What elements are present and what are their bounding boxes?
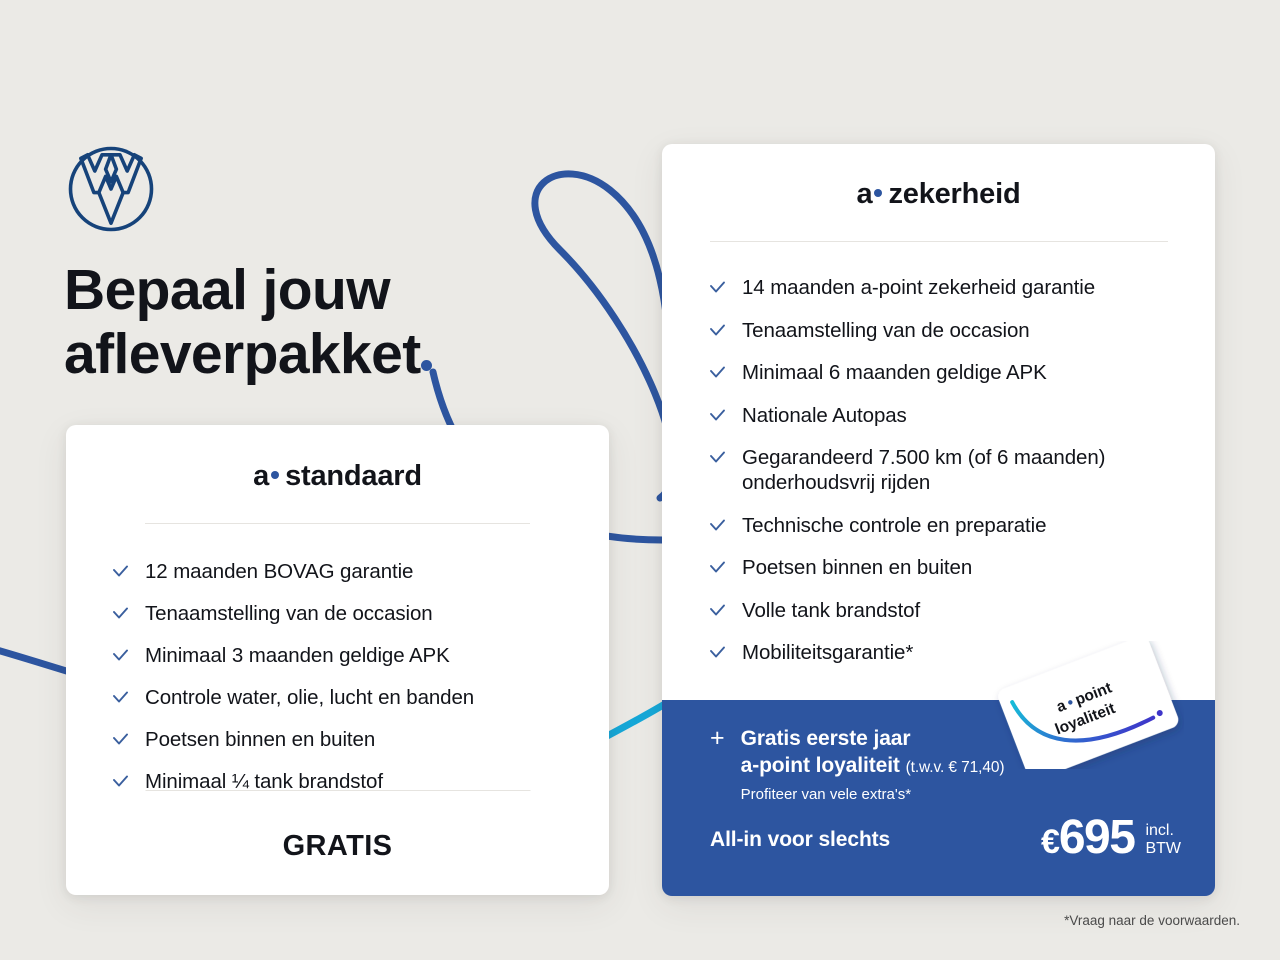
list-item-label: Mobiliteitsgarantie* — [742, 640, 913, 665]
list-item: Minimaal 3 maanden geldige APK — [112, 643, 609, 668]
standaard-price-label: GRATIS — [66, 830, 609, 863]
list-item-label: Poetsen binnen en buiten — [145, 727, 375, 752]
list-item: 12 maanden BOVAG garantie — [112, 559, 609, 584]
list-item-label: 12 maanden BOVAG garantie — [145, 559, 413, 584]
list-item-label: Tenaamstelling van de occasion — [742, 318, 1030, 343]
card-standaard-title: astandaard — [66, 460, 609, 493]
list-item-label: Poetsen binnen en buiten — [742, 555, 972, 580]
brand-a-letter: a — [857, 178, 873, 210]
check-icon — [112, 774, 129, 791]
card-standaard[interactable]: astandaard 12 maanden BOVAG garantie Ten… — [66, 425, 609, 895]
price-prefix-label: All-in voor slechts — [710, 828, 890, 852]
price-tax-note: incl. BTW — [1145, 822, 1181, 858]
page-title-line2: afleverpakket — [64, 322, 421, 386]
check-icon — [709, 560, 726, 577]
list-item-label: Nationale Autopas — [742, 403, 907, 428]
page-title: Bepaal jouw afleverpakket — [64, 258, 421, 386]
promo-page: Bepaal jouw afleverpakket astandaard 12 … — [0, 0, 1280, 960]
list-item: Volle tank brandstof — [709, 598, 1215, 623]
card-standaard-divider — [145, 523, 530, 524]
list-item-label: Minimaal 6 maanden geldige APK — [742, 360, 1047, 385]
page-title-line1: Bepaal jouw — [64, 258, 390, 322]
check-icon — [112, 564, 129, 581]
check-icon — [709, 603, 726, 620]
price-amount: 695 — [1059, 811, 1135, 864]
price-wrapper: €695 incl. BTW — [1041, 814, 1181, 866]
list-item-label: Minimaal 3 maanden geldige APK — [145, 643, 450, 668]
loyalty-line-1: Gratis eerste jaar — [741, 725, 1005, 752]
list-item: Tenaamstelling van de occasion — [112, 601, 609, 626]
price-value: €695 — [1041, 814, 1135, 866]
list-item: Tenaamstelling van de occasion — [709, 318, 1215, 343]
a-point-loyaliteit-card: a•point loyaliteit — [988, 641, 1184, 769]
check-icon — [709, 365, 726, 382]
loyalty-line-2-main: a-point loyaliteit — [741, 754, 900, 777]
card-zekerheid[interactable]: azekerheid 14 maanden a-point zekerheid … — [662, 144, 1215, 896]
brand-dot-icon — [271, 471, 279, 479]
loyalty-line-3: Profiteer van vele extra's* — [741, 784, 1005, 806]
list-item-label: Gegarandeerd 7.500 km (of 6 maanden) ond… — [742, 445, 1105, 495]
currency-symbol: € — [1041, 823, 1059, 861]
list-item: 14 maanden a-point zekerheid garantie — [709, 275, 1215, 300]
card-zekerheid-divider — [710, 241, 1168, 242]
check-icon — [112, 648, 129, 665]
list-item: Controle water, olie, lucht en banden — [112, 685, 609, 710]
zekerheid-feature-list: 14 maanden a-point zekerheid garantie Te… — [709, 275, 1215, 665]
check-icon — [709, 645, 726, 662]
list-item-label: Volle tank brandstof — [742, 598, 920, 623]
standaard-feature-list: 12 maanden BOVAG garantie Tenaamstelling… — [112, 559, 609, 794]
price-row: All-in voor slechts €695 incl. BTW — [710, 814, 1181, 866]
card-zekerheid-title-text: zekerheid — [888, 178, 1020, 210]
list-item-label: Tenaamstelling van de occasion — [145, 601, 433, 626]
list-item: Nationale Autopas — [709, 403, 1215, 428]
footnote: *Vraag naar de voorwaarden. — [1064, 913, 1240, 928]
list-item: Poetsen binnen en buiten — [709, 555, 1215, 580]
loyalty-offer-block: + Gratis eerste jaar a-point loyaliteit … — [710, 725, 1005, 806]
check-icon — [709, 450, 726, 467]
list-item: Poetsen binnen en buiten — [112, 727, 609, 752]
list-item: Gegarandeerd 7.500 km (of 6 maanden) ond… — [709, 445, 1215, 495]
headline-dot — [421, 360, 432, 371]
list-item: Minimaal 6 maanden geldige APK — [709, 360, 1215, 385]
list-item-label: Controle water, olie, lucht en banden — [145, 685, 474, 710]
volkswagen-logo — [66, 144, 156, 234]
card-zekerheid-title: azekerheid — [662, 178, 1215, 211]
check-icon — [709, 280, 726, 297]
list-item-label: Technische controle en preparatie — [742, 513, 1046, 538]
check-icon — [112, 690, 129, 707]
plus-icon: + — [710, 725, 725, 806]
check-icon — [112, 732, 129, 749]
check-icon — [709, 323, 726, 340]
list-item: Technische controle en preparatie — [709, 513, 1215, 538]
check-icon — [112, 606, 129, 623]
loyalty-line-2: a-point loyaliteit (t.w.v. € 71,40) — [741, 752, 1005, 782]
list-item-label: 14 maanden a-point zekerheid garantie — [742, 275, 1095, 300]
brand-a-letter: a — [253, 460, 269, 492]
brand-dot-icon — [874, 189, 882, 197]
check-icon — [709, 408, 726, 425]
check-icon — [709, 518, 726, 535]
card-standaard-title-text: standaard — [285, 460, 422, 492]
standaard-price-divider — [145, 790, 530, 791]
